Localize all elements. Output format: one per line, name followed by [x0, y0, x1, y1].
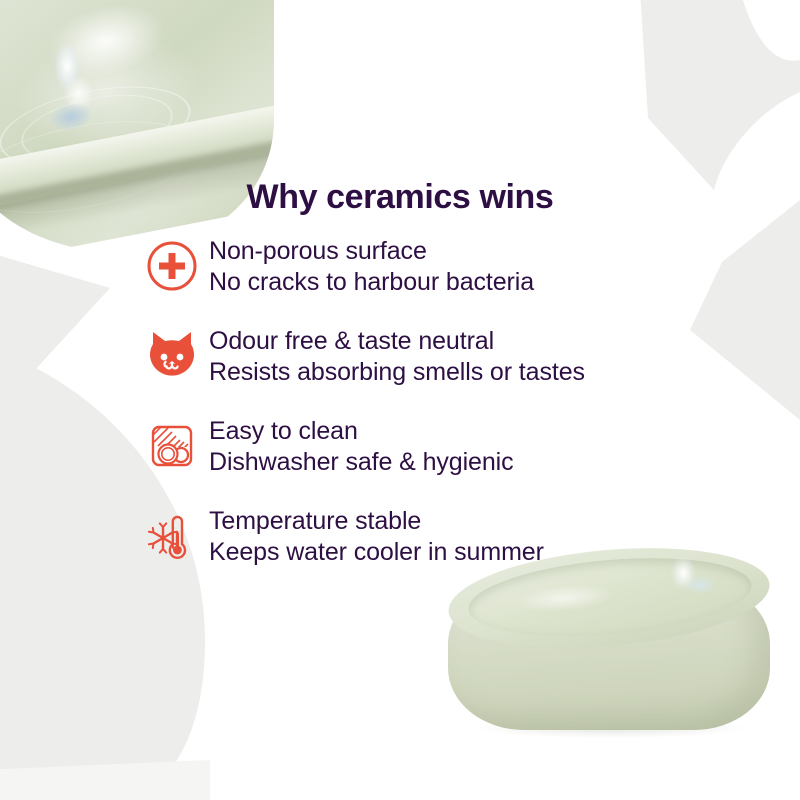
feature-subtitle: No cracks to harbour bacteria [209, 267, 534, 298]
feature-title: Odour free & taste neutral [209, 326, 585, 357]
feature-item-odour-free: Odour free & taste neutral Resists absor… [143, 325, 743, 415]
product-photo-basin-closeup [0, 0, 274, 264]
photo-mask [0, 0, 274, 264]
feature-item-easy-to-clean: Easy to clean Dishwasher safe & hygienic [143, 415, 743, 505]
feature-list: Non-porous surface No cracks to harbour … [143, 235, 743, 595]
thermometer-snowflake-icon-svg [146, 510, 198, 562]
feature-title: Easy to clean [209, 416, 514, 447]
plus-circle-icon [143, 237, 201, 295]
dishwasher-icon [143, 417, 201, 475]
feature-subtitle: Dishwasher safe & hygienic [209, 447, 514, 478]
product-photo-fountain [440, 548, 778, 730]
feature-title: Non-porous surface [209, 236, 534, 267]
thermometer-icon [170, 517, 185, 558]
feature-text: Non-porous surface No cracks to harbour … [209, 235, 534, 298]
cat-face-icon-svg [146, 330, 198, 382]
feature-subtitle: Resists absorbing smells or tastes [209, 357, 585, 388]
infographic-canvas: Why ceramics wins Non-porous surface No … [0, 0, 800, 800]
plus-circle-icon-svg [146, 240, 198, 292]
thermometer-snowflake-icon [143, 507, 201, 565]
page-title: Why ceramics wins [0, 178, 800, 217]
feature-title: Temperature stable [209, 506, 544, 537]
shape-left-wedges [0, 250, 150, 620]
shape-bottom-band [0, 760, 210, 800]
dishwasher-icon-svg [146, 420, 198, 472]
feature-item-non-porous: Non-porous surface No cracks to harbour … [143, 235, 743, 325]
feature-text: Odour free & taste neutral Resists absor… [209, 325, 585, 388]
cat-face-icon [143, 327, 201, 385]
feature-text: Easy to clean Dishwasher safe & hygienic [209, 415, 514, 478]
fountain-water-spout [654, 550, 724, 600]
